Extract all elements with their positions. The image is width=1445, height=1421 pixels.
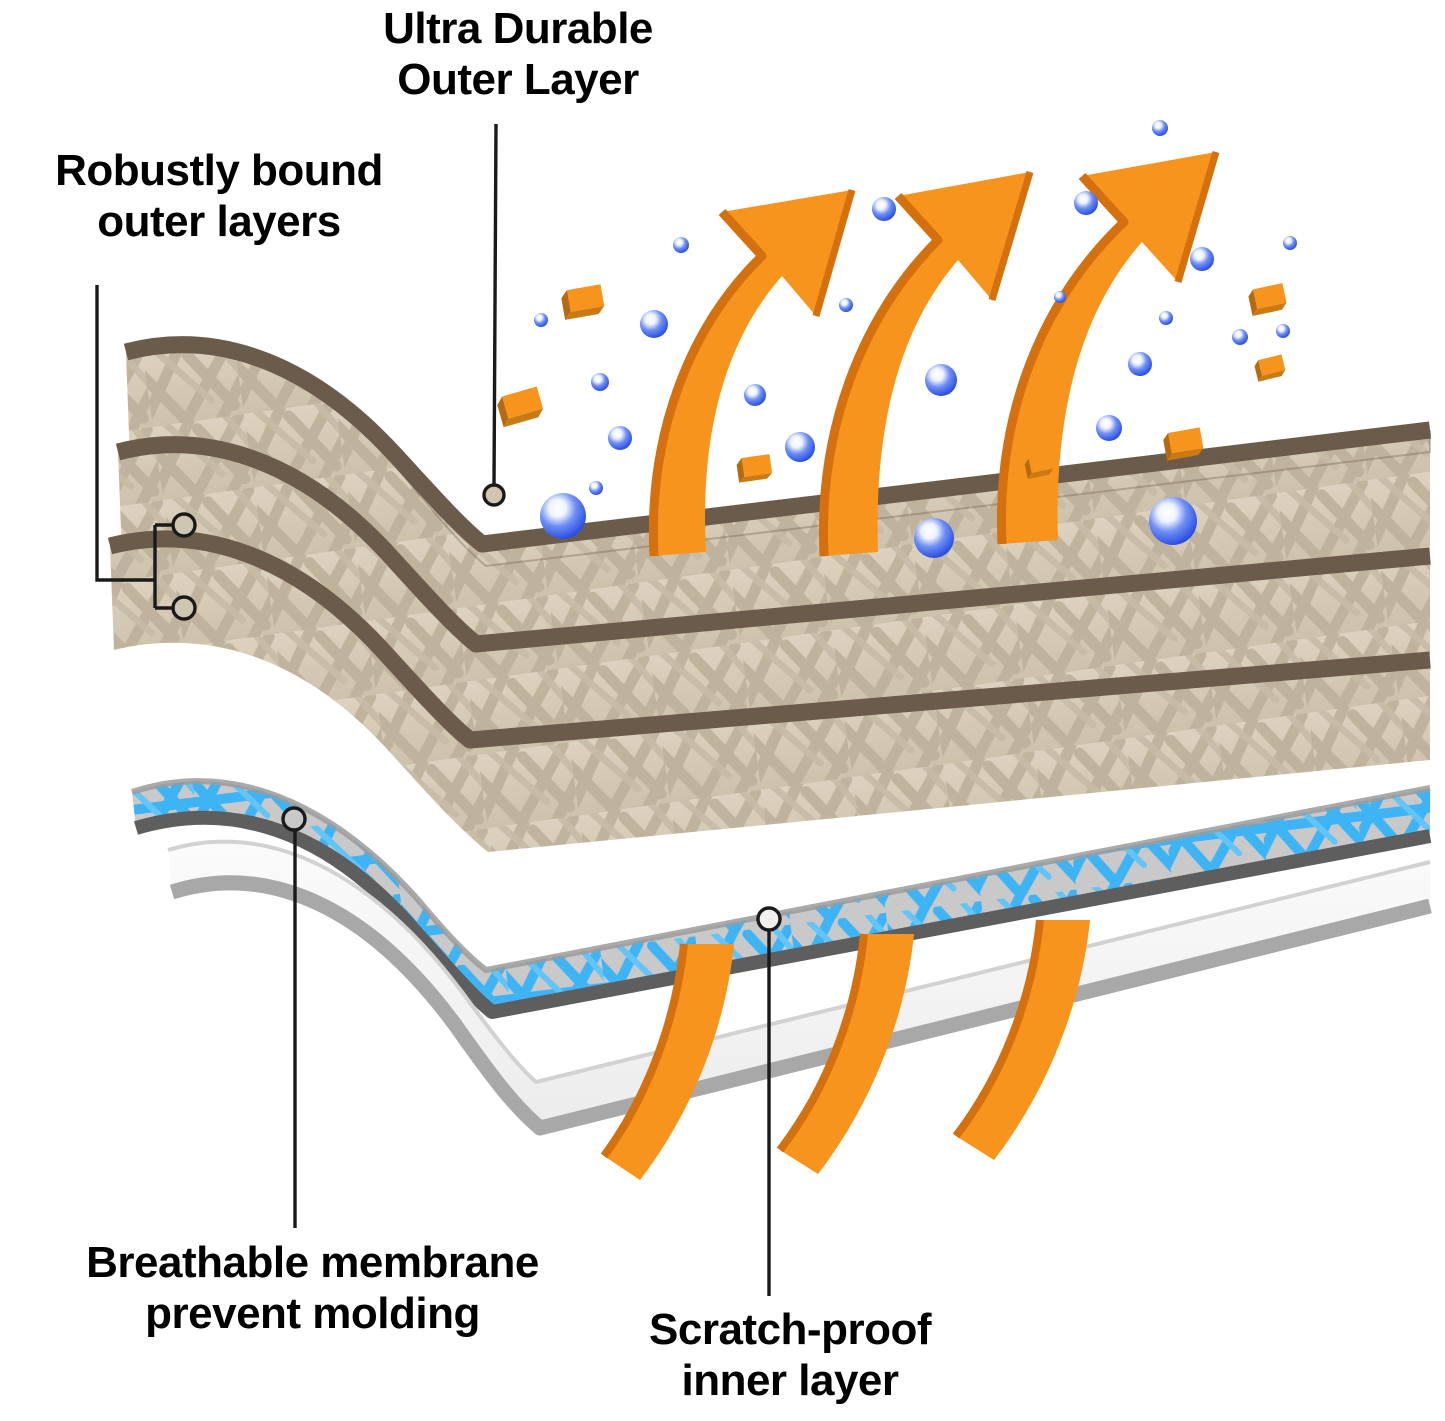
leader-marker-bound-2 <box>173 597 195 619</box>
label-breathable-membrane: Breathable membrane prevent molding <box>0 1238 625 1339</box>
label-scratch-proof-inner-layer: Scratch-proof inner layer <box>580 1305 1000 1406</box>
label-ultra-durable-outer-layer: Ultra Durable Outer Layer <box>318 4 718 105</box>
label-robustly-bound-outer-layers: Robustly bound outer layers <box>4 146 434 247</box>
leader-marker-membrane <box>283 808 305 830</box>
leader-marker-scratch <box>758 908 780 930</box>
cube <box>736 454 773 482</box>
leader-outer-layer <box>494 124 496 486</box>
cube <box>1253 354 1286 381</box>
leader-marker-outer <box>484 485 504 505</box>
leader-marker-bound-1 <box>173 514 195 536</box>
cube <box>1247 283 1288 316</box>
layered-fabric-diagram: Ultra Durable Outer Layer Robustly bound… <box>0 0 1445 1421</box>
arrow-down-3 <box>956 920 1090 1160</box>
cube <box>560 284 605 320</box>
cube <box>495 387 545 428</box>
scratch-proof-inner <box>168 842 1430 1128</box>
